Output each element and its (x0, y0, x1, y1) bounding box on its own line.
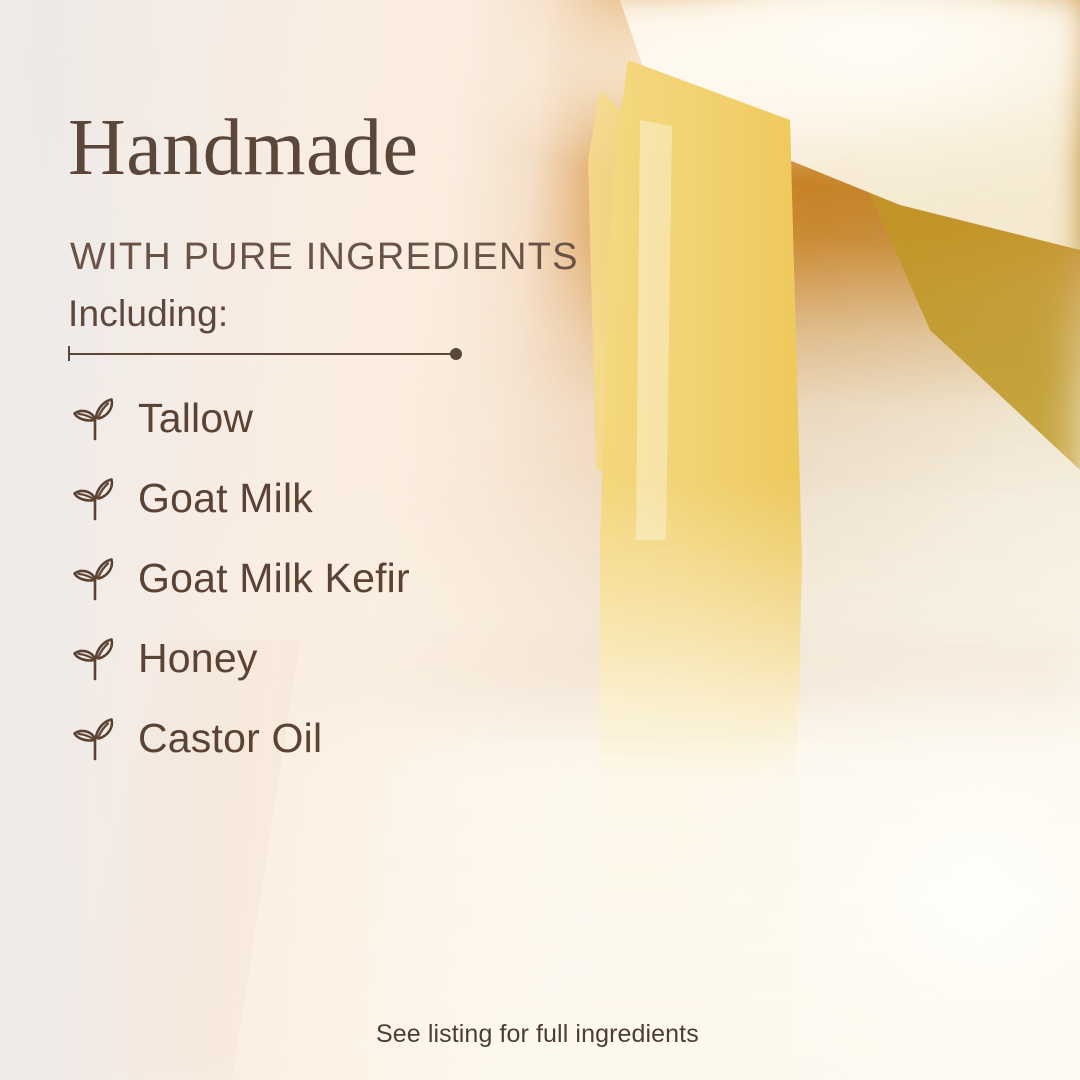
list-item: Honey (66, 618, 410, 698)
list-item: Goat Milk Kefir (66, 538, 410, 618)
sprout-icon (66, 633, 124, 683)
sprout-icon (66, 553, 124, 603)
page-title: Handmade (68, 108, 419, 188)
text-overlay: Handmade WITH PURE INGREDIENTS Including… (0, 0, 1080, 1080)
sprout-icon (66, 713, 124, 763)
sprout-icon (66, 473, 124, 523)
list-item: Castor Oil (66, 698, 410, 778)
divider-dot-icon (450, 348, 462, 360)
list-item-label: Goat Milk (138, 478, 313, 519)
list-item: Goat Milk (66, 458, 410, 538)
ingredient-list: Tallow Goat Milk (66, 378, 410, 778)
list-item-label: Tallow (138, 398, 253, 439)
sprout-icon (66, 393, 124, 443)
list-item: Tallow (66, 378, 410, 458)
marketing-graphic-canvas: Handmade WITH PURE INGREDIENTS Including… (0, 0, 1080, 1080)
divider-rule (68, 353, 454, 355)
list-item-label: Goat Milk Kefir (138, 558, 410, 599)
list-item-label: Honey (138, 638, 258, 679)
divider (68, 346, 464, 364)
list-item-label: Castor Oil (138, 718, 322, 759)
subtitle: WITH PURE INGREDIENTS (70, 238, 579, 276)
footnote-text: See listing for full ingredients (376, 1022, 699, 1047)
list-lead-in-label: Including: (68, 295, 228, 332)
